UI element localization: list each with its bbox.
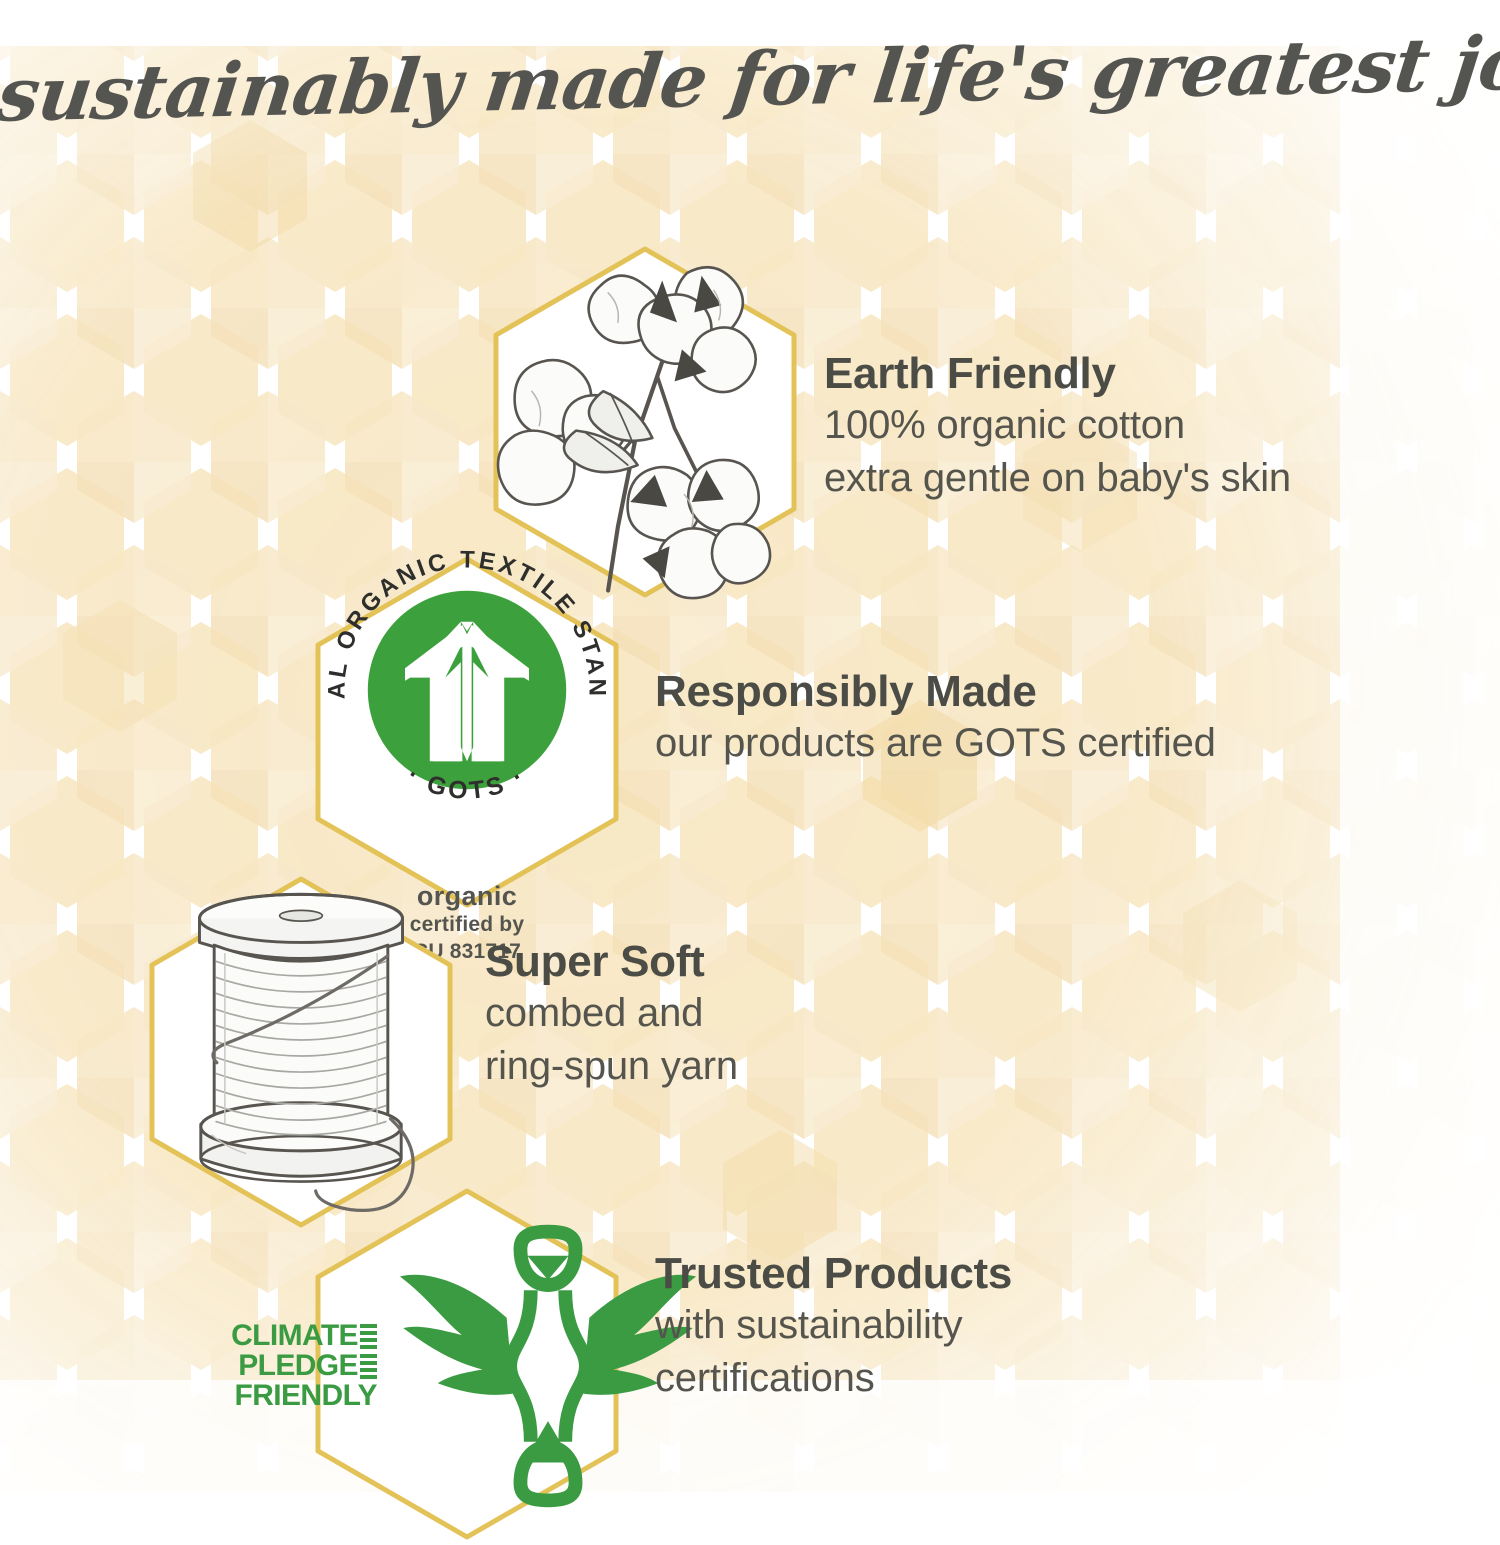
feature-responsible-text: Responsibly Made our products are GOTS c… — [655, 666, 1216, 770]
feature-trusted-text: Trusted Products with sustainability cer… — [655, 1248, 1012, 1405]
feature-trusted-line-1: with sustainability — [655, 1299, 1012, 1352]
climate-pledge-friendly-icon: CLIMATE PLEDGE FRIENDLY — [312, 1185, 622, 1543]
feature-earth-line-1: 100% organic cotton — [824, 399, 1291, 452]
feature-trusted-line-2: certifications — [655, 1352, 1012, 1405]
hexagon-frame-climate-pledge: CLIMATE PLEDGE FRIENDLY — [312, 1185, 622, 1543]
hexagon-frame-gots: GLOBAL ORGANIC TEXTILE STANDARD · GOTS ·… — [312, 553, 622, 911]
feature-soft-line-1: combed and — [485, 987, 738, 1040]
feature-responsible-title: Responsibly Made — [655, 666, 1216, 717]
feature-soft-title: Super Soft — [485, 936, 738, 987]
cpf-bars-icon — [360, 1323, 377, 1349]
gots-badge-icon: GLOBAL ORGANIC TEXTILE STANDARD · GOTS ·… — [312, 553, 622, 911]
cpf-bars-icon-2 — [360, 1353, 377, 1379]
thread-spool-icon — [146, 873, 456, 1231]
tagline-banner: sustainably made for life's greatest joy… — [0, 42, 1500, 116]
feature-earth-title: Earth Friendly — [824, 348, 1291, 399]
feature-soft-text: Super Soft combed and ring-spun yarn — [485, 936, 738, 1093]
feature-soft-line-2: ring-spun yarn — [485, 1040, 738, 1093]
feature-earth-text: Earth Friendly 100% organic cotton extra… — [824, 348, 1291, 505]
tagline-text: sustainably made for life's greatest joy… — [0, 25, 1500, 132]
cpf-line-1: CLIMATE — [231, 1321, 358, 1351]
feature-trusted-title: Trusted Products — [655, 1248, 1012, 1299]
cpf-line-3: FRIENDLY — [235, 1381, 377, 1411]
feature-responsible-line-1: our products are GOTS certified — [655, 717, 1216, 770]
tagline-words: sustainably made for life's greatest joy — [0, 20, 1500, 139]
hexagon-frame-spool — [146, 873, 456, 1231]
feature-earth-line-2: extra gentle on baby's skin — [824, 452, 1291, 505]
cpf-line-2: PLEDGE — [238, 1351, 358, 1381]
